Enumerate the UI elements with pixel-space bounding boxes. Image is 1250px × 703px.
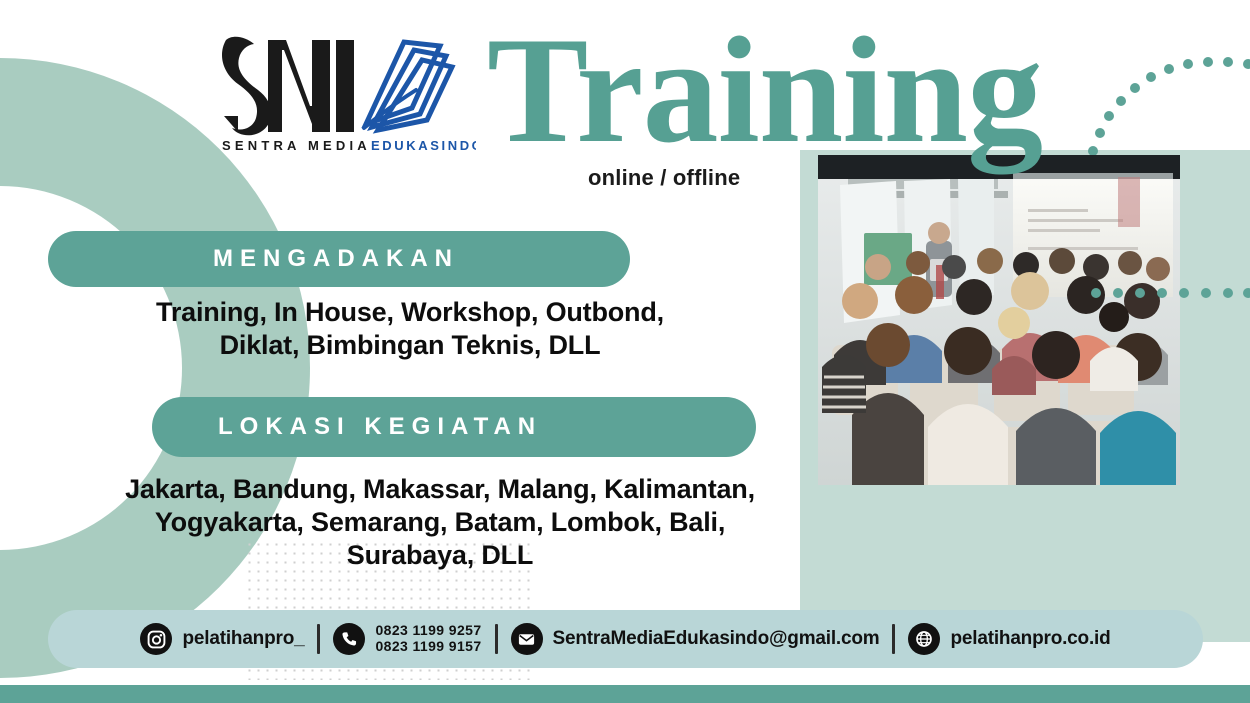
services-list: Training, In House, Workshop, Outbond, D…: [90, 296, 730, 362]
phone-numbers: 0823 1199 9257 0823 1199 9157: [375, 623, 481, 654]
separator-2: [495, 624, 498, 654]
services-line-2: Diklat, Bimbingan Teknis, DLL: [90, 329, 730, 362]
locations-list: Jakarta, Bandung, Makassar, Malang, Kali…: [70, 473, 810, 572]
phone-icon: [333, 623, 365, 655]
instagram-handle: pelatihanpro_: [182, 628, 304, 650]
contact-phone[interactable]: 0823 1199 9257 0823 1199 9157: [333, 623, 481, 655]
contact-email[interactable]: SentraMediaEdukasindo@gmail.com: [511, 623, 880, 655]
badge-lokasi-label: LOKASI KEGIATAN: [218, 413, 542, 441]
locations-line-1: Jakarta, Bandung, Makassar, Malang, Kali…: [70, 473, 810, 506]
phone-number-1: 0823 1199 9257: [375, 623, 481, 639]
bottom-accent-bar: [0, 685, 1250, 703]
email-address: SentraMediaEdukasindo@gmail.com: [553, 628, 880, 650]
svg-text:SENTRA MEDIA: SENTRA MEDIA: [222, 138, 371, 153]
contact-footer-bar: pelatihanpro_ 0823 1199 9257 0823 1199 9…: [48, 610, 1203, 668]
separator-3: [892, 624, 895, 654]
separator-1: [317, 624, 320, 654]
dotted-line-decoration: [1090, 283, 1250, 303]
page-subtitle: online / offline: [588, 165, 740, 191]
contact-instagram[interactable]: pelatihanpro_: [140, 623, 304, 655]
company-logo: SENTRA MEDIA EDUKASINDO: [208, 28, 476, 154]
phone-number-2: 0823 1199 9157: [375, 639, 481, 655]
locations-line-2: Yogyakarta, Semarang, Batam, Lombok, Bal…: [70, 506, 810, 539]
locations-line-3: Surabaya, DLL: [70, 539, 810, 572]
services-line-1: Training, In House, Workshop, Outbond,: [90, 296, 730, 329]
badge-lokasi-kegiatan: LOKASI KEGIATAN: [152, 397, 756, 457]
website-url: pelatihanpro.co.id: [950, 628, 1110, 650]
globe-icon: [908, 623, 940, 655]
badge-mengadakan-label: MENGADAKAN: [213, 245, 459, 273]
svg-text:EDUKASINDO: EDUKASINDO: [371, 138, 476, 153]
page-title: Training: [487, 18, 1042, 162]
instagram-icon: [140, 623, 172, 655]
training-promo-poster: SENTRA MEDIA EDUKASINDO Training online …: [0, 0, 1250, 703]
envelope-icon: [511, 623, 543, 655]
contact-website[interactable]: pelatihanpro.co.id: [908, 623, 1110, 655]
badge-mengadakan: MENGADAKAN: [48, 231, 630, 287]
seminar-photo: [818, 155, 1180, 485]
